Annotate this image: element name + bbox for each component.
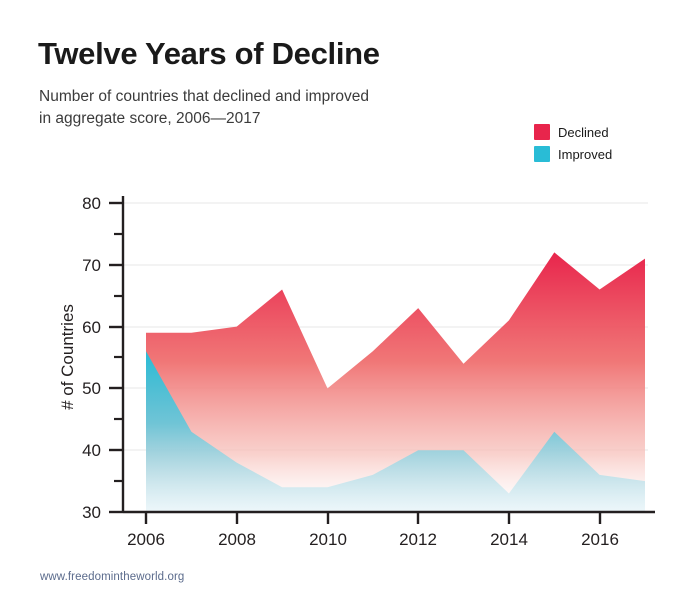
legend-item-declined[interactable]: Declined: [534, 124, 612, 140]
y-tick-30: 30: [82, 503, 101, 522]
page-subtitle: Number of countries that declined and im…: [39, 86, 369, 131]
y-tick-80: 80: [82, 194, 101, 213]
y-axis: [109, 196, 123, 512]
x-tick-2012: 2012: [399, 530, 437, 549]
legend-label-improved: Improved: [558, 148, 612, 161]
chart-page: Twelve Years of Decline Number of countr…: [0, 0, 675, 607]
declined-area: [146, 252, 645, 512]
y-axis-title: # of Countries: [58, 304, 77, 410]
x-tick-labels: 2006 2008 2010 2012 2014 2016: [127, 530, 619, 549]
x-tick-2008: 2008: [218, 530, 256, 549]
y-tick-labels: 80 70 60 50 40 30: [82, 194, 101, 522]
y-tick-40: 40: [82, 441, 101, 460]
gridlines: [123, 203, 648, 450]
x-tick-2010: 2010: [309, 530, 347, 549]
improved-area: [146, 351, 645, 512]
legend-item-improved[interactable]: Improved: [534, 146, 612, 162]
x-axis: [123, 512, 655, 524]
y-tick-60: 60: [82, 318, 101, 337]
legend-swatch-declined: [534, 124, 550, 140]
x-tick-2014: 2014: [490, 530, 528, 549]
page-title: Twelve Years of Decline: [38, 38, 380, 71]
source-url[interactable]: www.freedomintheworld.org: [40, 571, 184, 583]
x-tick-2016: 2016: [581, 530, 619, 549]
legend-swatch-improved: [534, 146, 550, 162]
y-tick-70: 70: [82, 256, 101, 275]
x-tick-2006: 2006: [127, 530, 165, 549]
legend-label-declined: Declined: [558, 126, 609, 139]
chart-legend: Declined Improved: [534, 124, 612, 162]
y-tick-50: 50: [82, 379, 101, 398]
